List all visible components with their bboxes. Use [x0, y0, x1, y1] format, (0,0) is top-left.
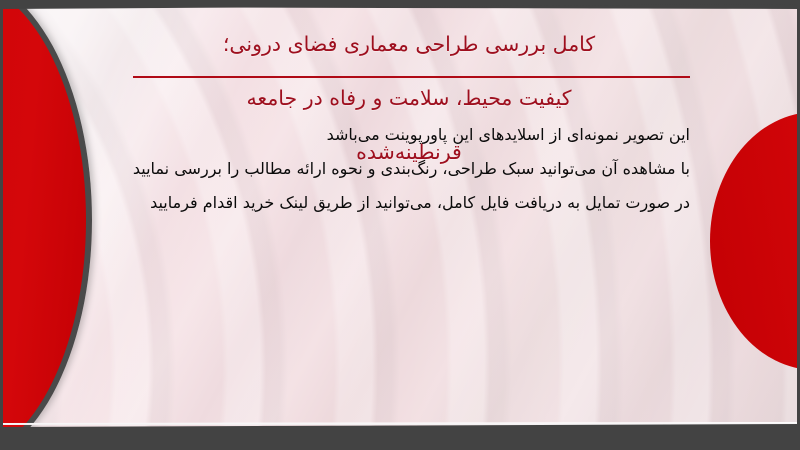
title-line-2: کیفیت محیط، سلامت و رفاه در جامعه	[120, 85, 698, 112]
frame-left-edge	[0, 0, 3, 450]
title-divider-rule	[133, 76, 690, 78]
slide-body-text: این تصویر نمونه‌ای از اسلایدهای این پاور…	[150, 118, 690, 220]
body-line-2: با مشاهده آن می‌توانید سبک طراحی، رنگ‌بن…	[150, 152, 690, 186]
presentation-slide: کامل بررسی طراحی معماری فضای درونی؛ کیفی…	[0, 0, 800, 450]
title-line-1: کامل بررسی طراحی معماری فضای درونی؛	[120, 31, 698, 58]
dark-bottom-bar	[0, 424, 800, 450]
body-line-3: در صورت تمایل به دریافت فایل کامل، می‌تو…	[150, 186, 690, 220]
body-line-1: این تصویر نمونه‌ای از اسلایدهای این پاور…	[150, 118, 690, 152]
